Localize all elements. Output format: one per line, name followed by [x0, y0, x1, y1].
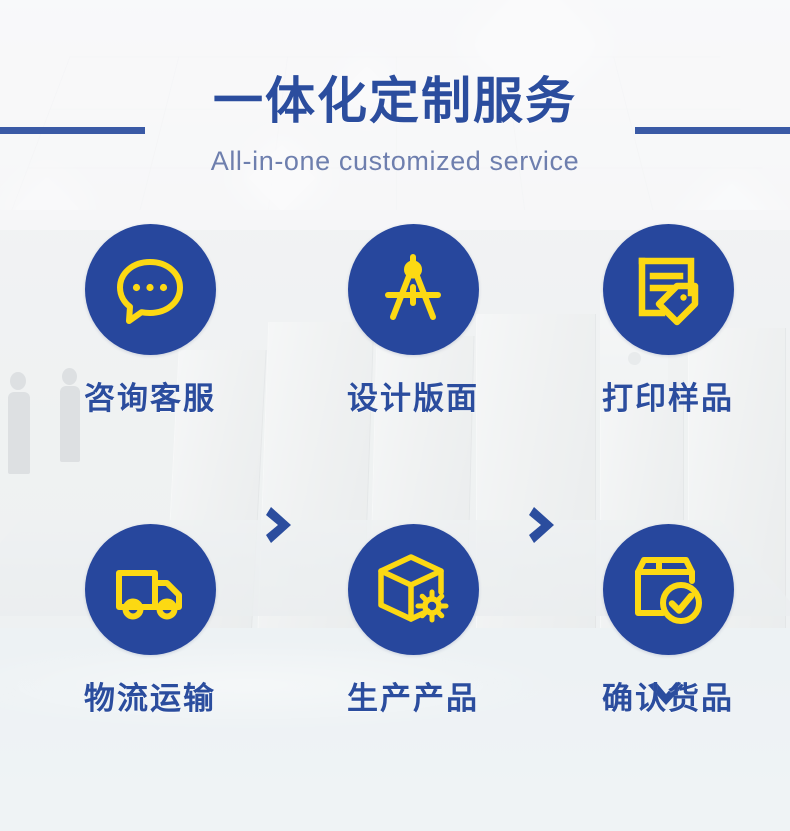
step-icon-circle — [85, 524, 216, 655]
process-steps: 咨询客服 — [0, 224, 790, 824]
step-consult-customer-service[interactable]: 咨询客服 — [60, 224, 240, 414]
process-row-1: 咨询客服 — [0, 224, 790, 524]
step-label: 咨询客服 — [60, 383, 240, 414]
drafting-compass-icon — [374, 251, 452, 329]
step-produce-product[interactable]: 生产产品 — [323, 524, 503, 714]
step-icon-circle — [603, 524, 734, 655]
step-label: 设计版面 — [323, 383, 503, 414]
chat-bubble-dots-icon — [111, 251, 189, 329]
box-gear-icon — [373, 550, 453, 630]
step-print-sample[interactable]: 打印样品 — [578, 224, 758, 414]
title-rule-left — [0, 127, 145, 134]
customized-service-banner: 一体化定制服务 All-in-one customized service — [0, 0, 790, 831]
title-rule-right — [635, 127, 790, 134]
step-icon-circle — [603, 224, 734, 355]
step-icon-circle — [348, 224, 479, 355]
step-icon-circle — [348, 524, 479, 655]
box-check-icon — [629, 551, 707, 629]
process-row-2: 物流运输 — [0, 524, 790, 824]
step-label: 打印样品 — [578, 383, 758, 414]
step-label: 生产产品 — [323, 683, 503, 714]
title-row: 一体化定制服务 — [0, 70, 790, 132]
document-tag-icon — [629, 251, 707, 329]
banner-header: 一体化定制服务 All-in-one customized service — [0, 70, 790, 177]
step-confirm-goods[interactable]: 确认货品 — [578, 524, 758, 714]
page-subtitle: All-in-one customized service — [0, 146, 790, 177]
delivery-truck-icon — [111, 551, 189, 629]
step-logistics-transport[interactable]: 物流运输 — [60, 524, 240, 714]
step-label: 物流运输 — [60, 683, 240, 714]
banner-content: 一体化定制服务 All-in-one customized service — [0, 0, 790, 831]
step-label: 确认货品 — [578, 683, 758, 714]
step-icon-circle — [85, 224, 216, 355]
step-design-layout[interactable]: 设计版面 — [323, 224, 503, 414]
page-title: 一体化定制服务 — [213, 76, 577, 126]
